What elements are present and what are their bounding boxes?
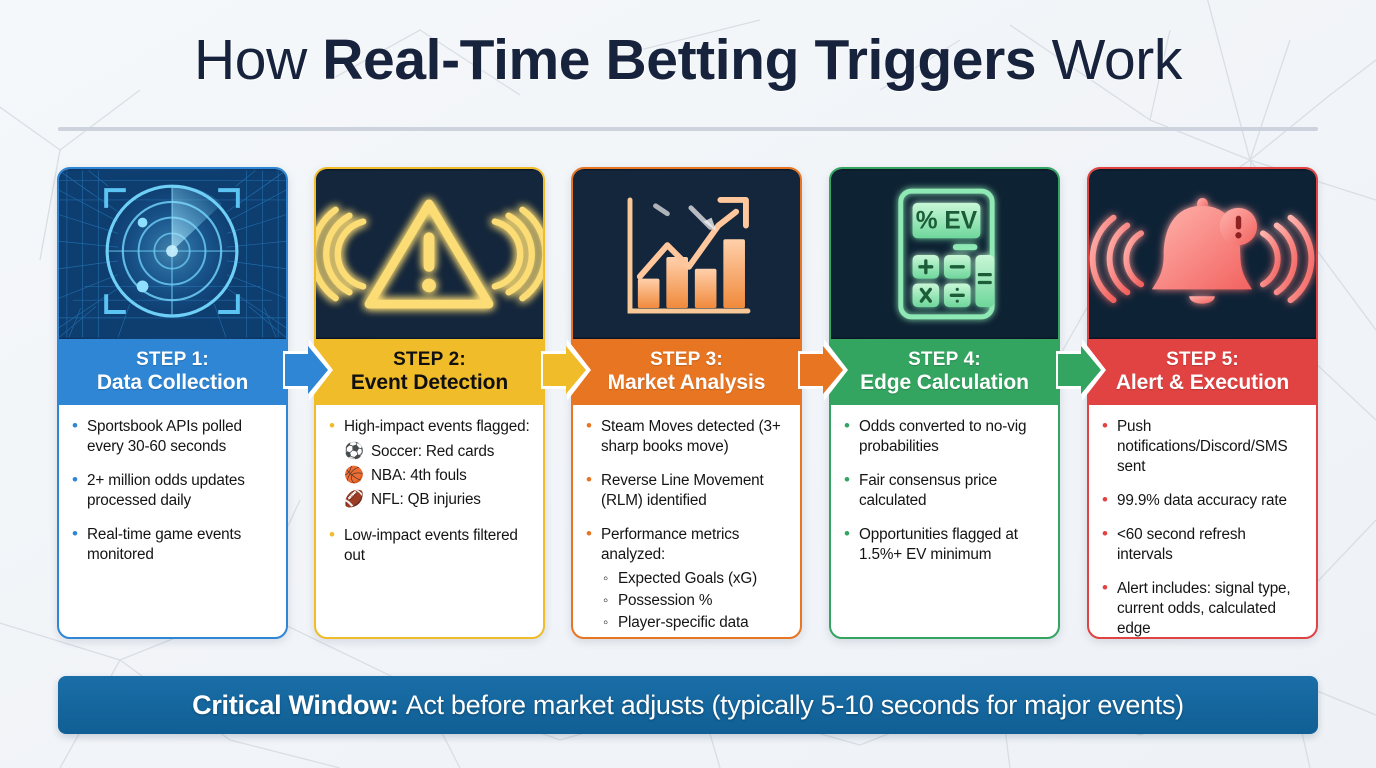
critical-window-banner: Critical Window:Act before market adjust… (58, 676, 1318, 734)
list-item: High-impact events flagged: ⚽ Soccer: Re… (328, 417, 531, 512)
flow-arrow-4-to-5 (1056, 337, 1106, 403)
sub-bullet-list: ⚽ Soccer: Red cards 🏀 NBA: 4th fouls 🏈 N… (344, 440, 531, 512)
list-item: 🏀 NBA: 4th fouls (344, 464, 531, 488)
list-item-text: High-impact events flagged: (344, 418, 530, 435)
step-body-1: Sportsbook APIs polled every 30-60 secon… (59, 405, 286, 635)
title-prefix: How (194, 28, 322, 92)
list-item: Reverse Line Movement (RLM) identified (585, 471, 788, 511)
list-item: Push notifications/Discord/SMS sent (1101, 417, 1304, 477)
step-header-1: STEP 1: Data Collection (59, 339, 286, 405)
list-item-text: NBA: 4th fouls (371, 467, 467, 484)
step-name: Alert & Execution (1116, 371, 1289, 395)
step-label: STEP 2: (393, 349, 466, 371)
list-item: 99.9% data accuracy rate (1101, 491, 1304, 511)
step-label: STEP 4: (908, 349, 981, 371)
radar-scope-icon (59, 169, 286, 339)
title-emphasis: Real-Time Betting Triggers (322, 28, 1036, 92)
steps-row: STEP 1: Data Collection Sportsbook APIs … (57, 167, 1319, 639)
list-item: <60 second refresh intervals (1101, 525, 1304, 565)
ringing-alert-bell-icon (1089, 169, 1316, 339)
list-item: Alert includes: signal type, current odd… (1101, 579, 1304, 639)
list-item: Odds converted to no-vig probabilities (843, 417, 1046, 457)
list-item: 🏈 NFL: QB injuries (344, 488, 531, 512)
list-item: ⚽ Soccer: Red cards (344, 440, 531, 464)
step-card-5[interactable]: STEP 5: Alert & Execution Push notificat… (1087, 167, 1318, 639)
step-card-3[interactable]: STEP 3: Market Analysis Steam Moves dete… (571, 167, 802, 639)
list-item-text: Soccer: Red cards (371, 443, 494, 460)
sub-bullet-list: Expected Goals (xG) Possession % Player-… (601, 568, 788, 634)
list-item: Real-time game events monitored (71, 525, 274, 565)
list-item-text: NFL: QB injuries (371, 491, 481, 508)
bar-chart-trend-arrow-icon (573, 169, 800, 339)
step-header-3: STEP 3: Market Analysis (573, 339, 800, 405)
list-item: 2+ million odds updates processed daily (71, 471, 274, 511)
list-item: Fair consensus price calculated (843, 471, 1046, 511)
flow-arrow-2-to-3 (541, 337, 591, 403)
step-name: Event Detection (351, 371, 508, 395)
step-header-5: STEP 5: Alert & Execution (1089, 339, 1316, 405)
banner-text: Act before market adjusts (typically 5-1… (406, 690, 1184, 721)
step-card-2[interactable]: STEP 2: Event Detection High-impact even… (314, 167, 545, 639)
basketball-icon: 🏀 (344, 465, 364, 487)
step-card-1[interactable]: STEP 1: Data Collection Sportsbook APIs … (57, 167, 288, 639)
warning-alert-triangle-icon (316, 169, 543, 339)
list-item: Player-specific data (601, 612, 788, 634)
step-body-5: Push notifications/Discord/SMS sent 99.9… (1089, 405, 1316, 635)
american-football-icon: 🏈 (344, 489, 364, 511)
step-header-4: STEP 4: Edge Calculation (831, 339, 1058, 405)
list-item: Performance metrics analyzed: Expected G… (585, 525, 788, 634)
title-suffix: Work (1036, 28, 1182, 92)
soccer-ball-icon: ⚽ (344, 441, 364, 463)
svg-text:% EV: % EV (916, 207, 978, 234)
list-item: Opportunities flagged at 1.5%+ EV minimu… (843, 525, 1046, 565)
step-body-4: Odds converted to no-vig probabilities F… (831, 405, 1058, 635)
bullet-list: Push notifications/Discord/SMS sent 99.9… (1101, 417, 1304, 639)
list-item: Low-impact events filtered out (328, 526, 531, 566)
step-name: Edge Calculation (860, 371, 1029, 395)
list-item-text: Performance metrics analyzed: (601, 526, 739, 563)
step-label: STEP 5: (1166, 349, 1239, 371)
list-item: Steam Moves detected (3+ sharp books mov… (585, 417, 788, 457)
bullet-list: Steam Moves detected (3+ sharp books mov… (585, 417, 788, 634)
step-label: STEP 1: (136, 349, 209, 371)
title-divider (58, 127, 1318, 131)
bullet-list: Sportsbook APIs polled every 30-60 secon… (71, 417, 274, 565)
step-body-2: High-impact events flagged: ⚽ Soccer: Re… (316, 405, 543, 635)
flow-arrow-3-to-4 (798, 337, 848, 403)
list-item: Possession % (601, 590, 788, 612)
step-header-2: STEP 2: Event Detection (316, 339, 543, 405)
flow-arrow-1-to-2 (283, 337, 333, 403)
step-name: Market Analysis (608, 371, 766, 395)
step-label: STEP 3: (650, 349, 723, 371)
list-item: Expected Goals (xG) (601, 568, 788, 590)
calculator-ev-icon: % EV (831, 169, 1058, 339)
bullet-list: High-impact events flagged: ⚽ Soccer: Re… (328, 417, 531, 566)
infographic-page: How Real-Time Betting Triggers Work (0, 0, 1376, 768)
step-card-4[interactable]: % EV (829, 167, 1060, 639)
step-body-3: Steam Moves detected (3+ sharp books mov… (573, 405, 800, 635)
banner-bold-label: Critical Window: (192, 690, 398, 721)
page-title: How Real-Time Betting Triggers Work (0, 26, 1376, 94)
list-item: Sportsbook APIs polled every 30-60 secon… (71, 417, 274, 457)
bullet-list: Odds converted to no-vig probabilities F… (843, 417, 1046, 565)
step-name: Data Collection (97, 371, 248, 395)
